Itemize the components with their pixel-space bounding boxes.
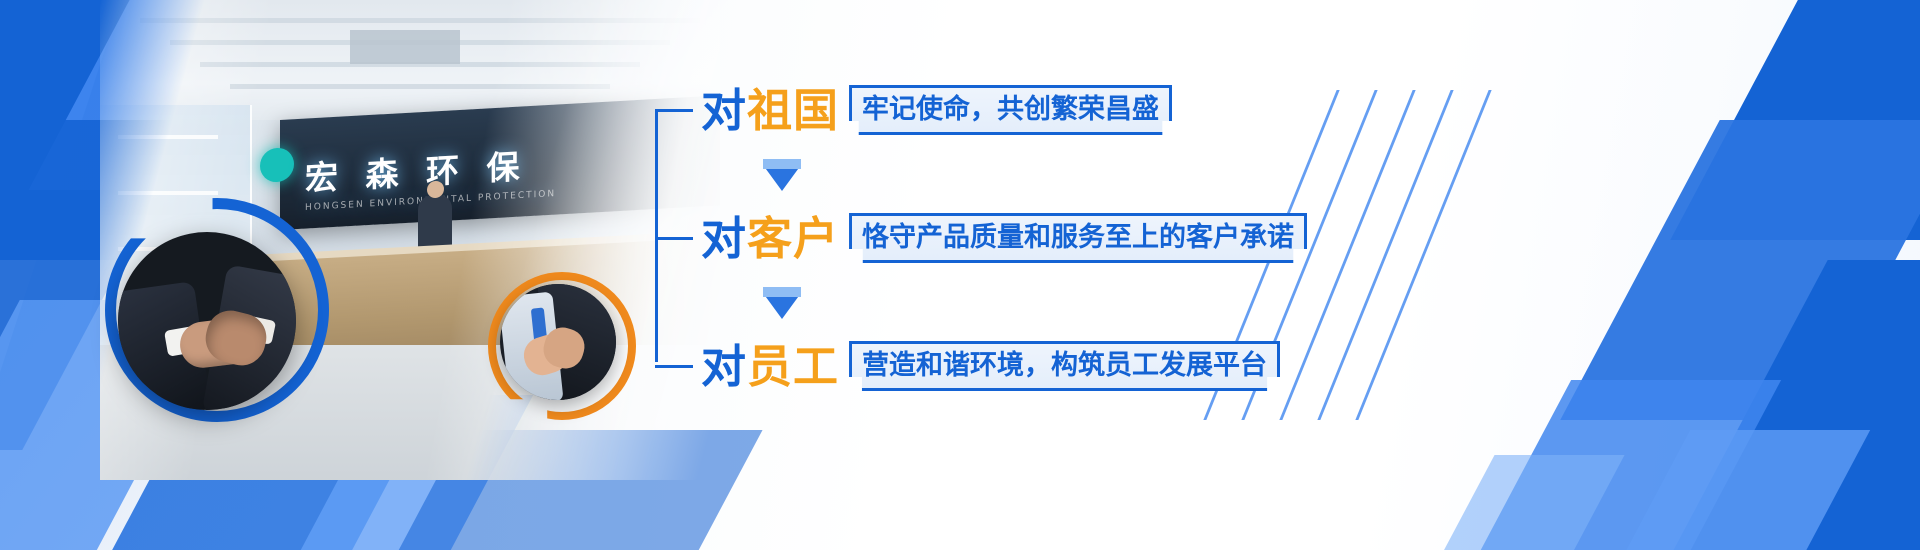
horizontal-tick-icon [655, 365, 693, 368]
value-statement-country: 牢记使命，共创繁荣昌盛 [849, 85, 1172, 135]
value-row-customer: 对客户 恪守产品质量和服务至上的客户承诺 [655, 210, 1307, 266]
applause-circle-photo [500, 284, 616, 400]
value-row-country: 对祖国 牢记使命，共创繁荣昌盛 [655, 82, 1172, 138]
handshake-circle-photo [118, 232, 296, 410]
value-label-country: 对祖国 [701, 88, 839, 133]
down-triangle-arrow-icon-1 [763, 165, 801, 191]
value-subject-employee: 员工 [747, 340, 839, 393]
value-subject-country: 祖国 [747, 84, 839, 137]
value-subject-customer: 客户 [747, 212, 839, 265]
horizontal-tick-icon [655, 237, 693, 240]
value-prefix-customer: 对 [701, 212, 747, 265]
value-prefix-employee: 对 [701, 340, 747, 393]
value-row-employee: 对员工 营造和谐环境，构筑员工发展平台 [655, 338, 1280, 394]
down-triangle-arrow-icon-2 [763, 293, 801, 319]
value-statement-customer: 恪守产品质量和服务至上的客户承诺 [849, 213, 1307, 263]
values-list: 对祖国 牢记使命，共创繁荣昌盛 对客户 恪守产品质量和服务至上的客户承诺 对员工… [655, 62, 1355, 407]
horizontal-tick-icon [655, 109, 693, 112]
value-prefix-country: 对 [701, 84, 747, 137]
company-values-banner: 宏 森 环 保 HONGSEN ENVIRONMENTAL PROTECTION [0, 0, 1920, 550]
value-label-employee: 对员工 [701, 344, 839, 389]
value-label-customer: 对客户 [701, 216, 839, 261]
value-statement-employee: 营造和谐环境，构筑员工发展平台 [849, 341, 1280, 391]
